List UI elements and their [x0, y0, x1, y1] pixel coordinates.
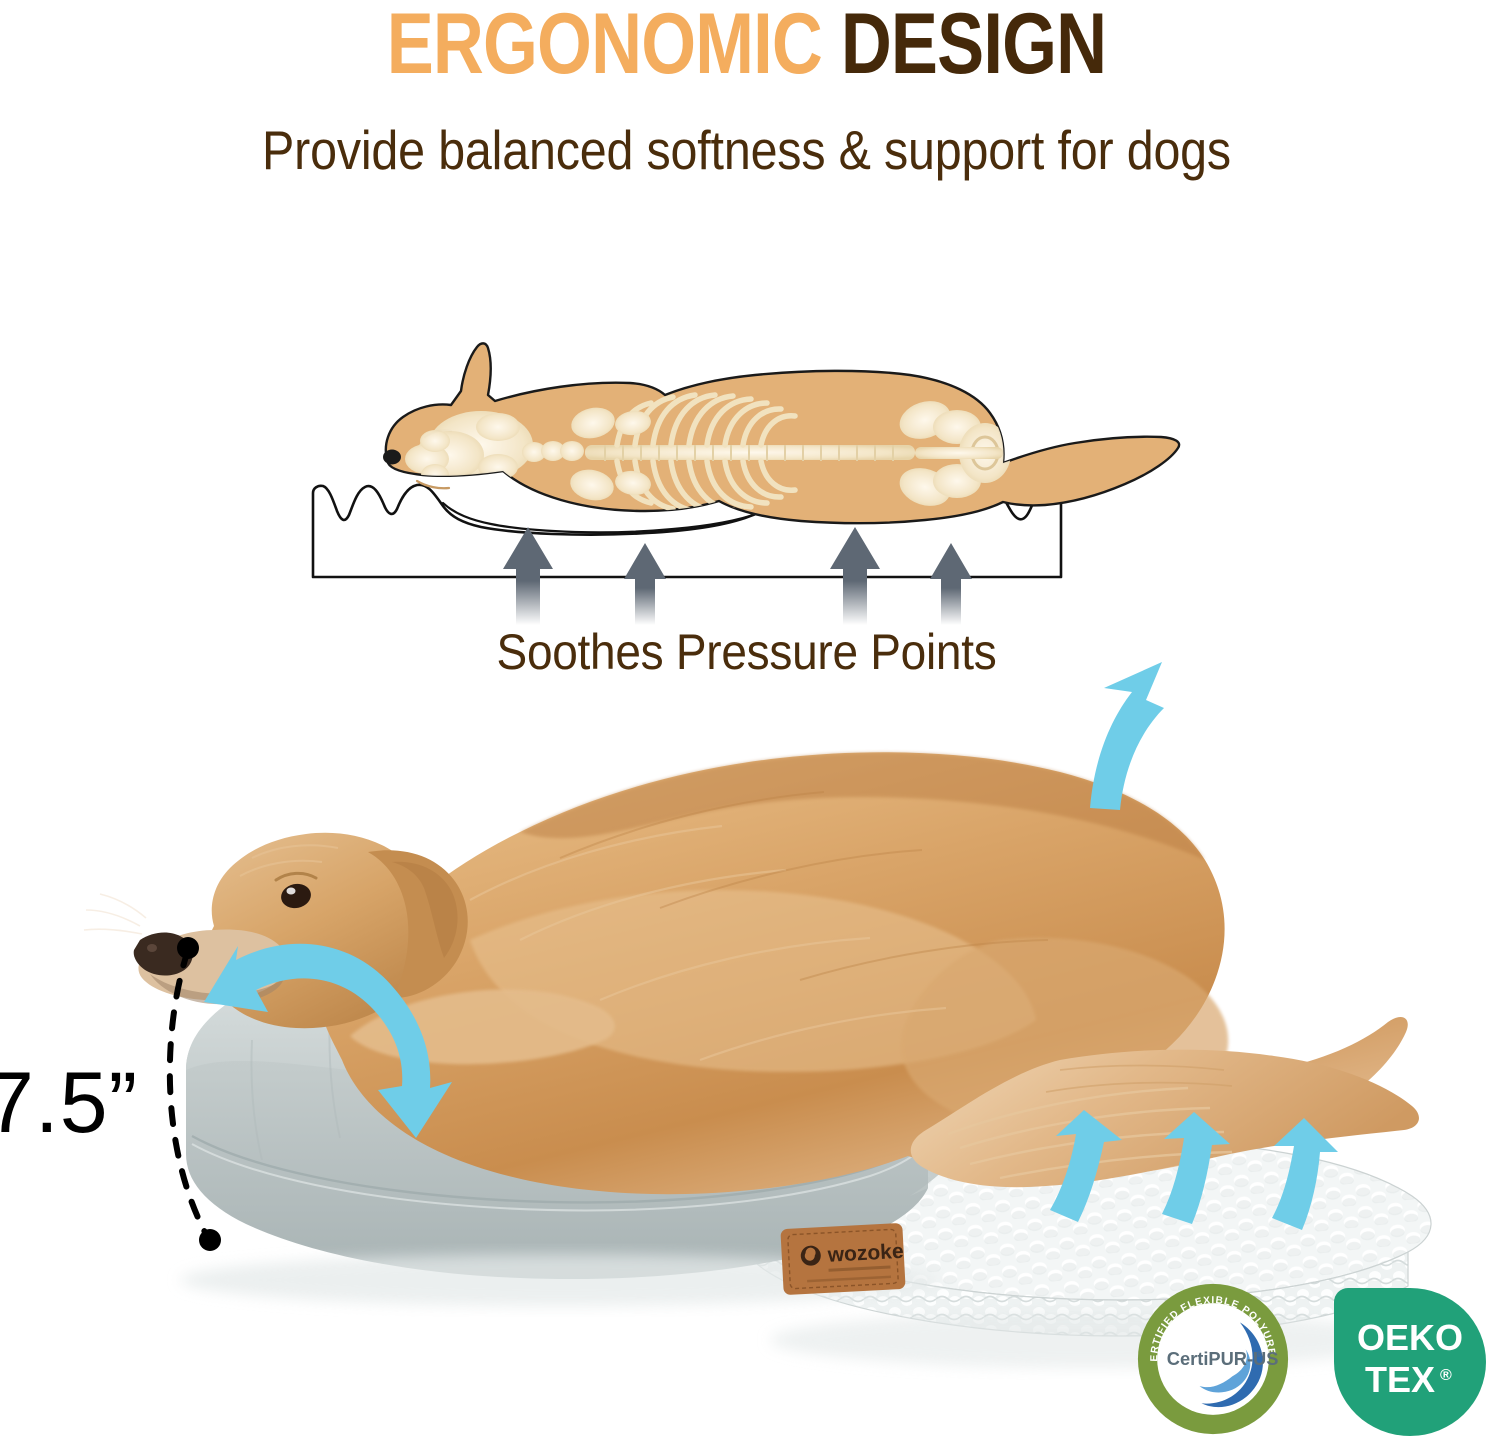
brand-tag: wozoke — [780, 1223, 905, 1295]
certipur-registered: ® — [1256, 1350, 1262, 1359]
headline-word-ergonomic: ERGONOMIC — [387, 0, 822, 92]
badge-oeko-tex: OEKO TEX ® — [1334, 1288, 1486, 1436]
pressure-point-diagram — [285, 295, 1245, 625]
oeko-tex-line2: TEX — [1365, 1359, 1435, 1400]
page-title: ERGONOMIC DESIGN — [134, 0, 1358, 92]
airflow-arrow-top — [1090, 662, 1164, 810]
oeko-tex-registered: ® — [1440, 1367, 1452, 1384]
infographic-canvas: ERGONOMIC DESIGN Provide balanced softne… — [0, 0, 1493, 1436]
badge-certipur-us: CONTAINS CERTIFIED FLEXIBLE POLYURETHANE… — [1136, 1282, 1290, 1436]
dimension-dashed-line — [170, 950, 208, 1238]
brand-tag-label: wozoke — [826, 1240, 904, 1267]
headline-word-design: DESIGN — [841, 0, 1106, 92]
subheadline: Provide balanced softness & support for … — [90, 117, 1404, 183]
oeko-tex-line1: OEKO — [1357, 1317, 1463, 1358]
height-dimension-label: 7.5” — [0, 1055, 138, 1151]
dog-nose — [383, 450, 401, 465]
